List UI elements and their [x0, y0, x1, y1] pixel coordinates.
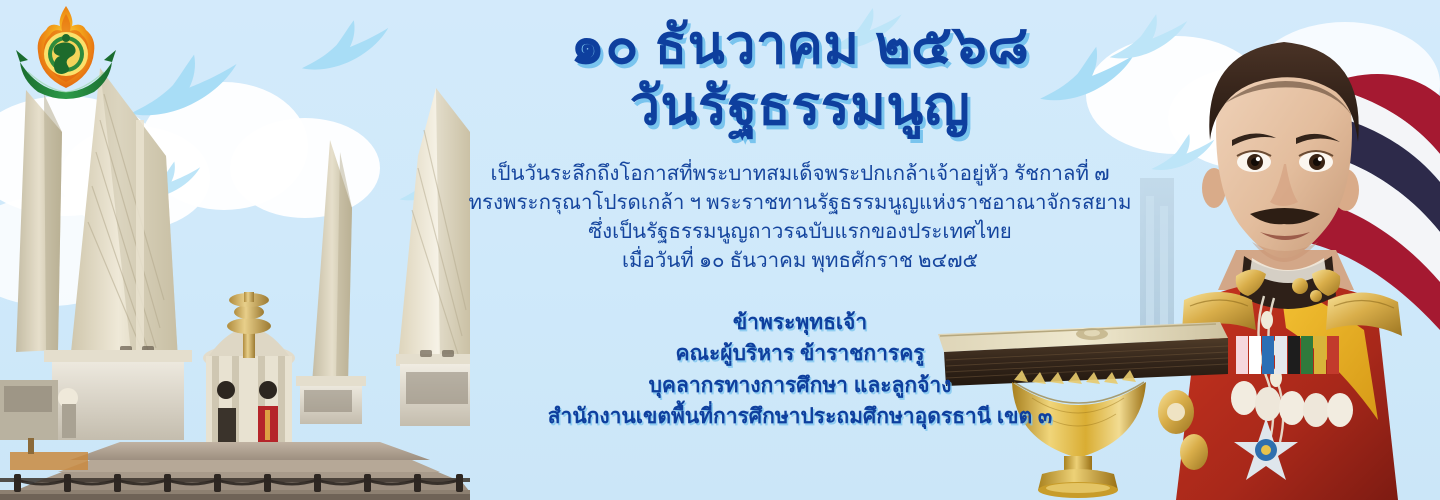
- monument-pedestal-left: [0, 350, 192, 440]
- signature-block: ข้าพระพุทธเจ้า คณะผู้บริหาร ข้าราชการครู…: [430, 307, 1170, 433]
- signature-line-3: บุคลากรทางการศึกษา และลูกจ้าง: [430, 370, 1170, 402]
- signature-line-1: ข้าพระพุทธเจ้า: [430, 307, 1170, 339]
- monument-pylon-far-left: [16, 90, 62, 352]
- description-paragraph: เป็นวันระลึกถึงโอกาสที่พระบาทสมเด็จพระปก…: [430, 160, 1170, 276]
- signature-line-4: สำนักงานเขตพื้นที่การศึกษาประถมศึกษาอุดร…: [430, 401, 1170, 433]
- text-content-block: ๑๐ ธันวาคม ๒๕๖๘ วันรัฐธรรมนูญ เป็นวันระล…: [430, 18, 1170, 433]
- eye-right: [1299, 151, 1333, 172]
- title-date-line: ๑๐ ธันวาคม ๒๕๖๘: [430, 18, 1170, 73]
- monument-pylon-inner-right: [296, 140, 366, 424]
- monument-wing-left: [70, 68, 178, 362]
- monument-foreground-detail: [10, 438, 88, 470]
- title-constitution-day: วันรัฐธรรมนูญ: [430, 79, 1170, 134]
- obec-emblem: [14, 4, 118, 108]
- description-line-4: เมื่อวันที่ ๑๐ ธันวาคม พุทธศักราช ๒๔๗๕: [430, 247, 1170, 276]
- monument-central-turret: [203, 292, 295, 446]
- democracy-monument-illustration: [0, 60, 470, 500]
- description-line-3: ซึ่งเป็นรัฐธรรมนูญถาวรฉบับแรกของประเทศไท…: [430, 218, 1170, 247]
- signature-line-2: คณะผู้บริหาร ข้าราชการครู: [430, 338, 1170, 370]
- description-line-1: เป็นวันระลึกถึงโอกาสที่พระบาทสมเด็จพระปก…: [430, 160, 1170, 189]
- eye-left: [1237, 151, 1271, 172]
- description-line-2: ทรงพระกรุณาโปรดเกล้า ฯ พระราชทานรัฐธรรมน…: [430, 189, 1170, 218]
- constitution-day-banner: ๑๐ ธันวาคม ๒๕๖๘ วันรัฐธรรมนูญ เป็นวันระล…: [0, 0, 1440, 500]
